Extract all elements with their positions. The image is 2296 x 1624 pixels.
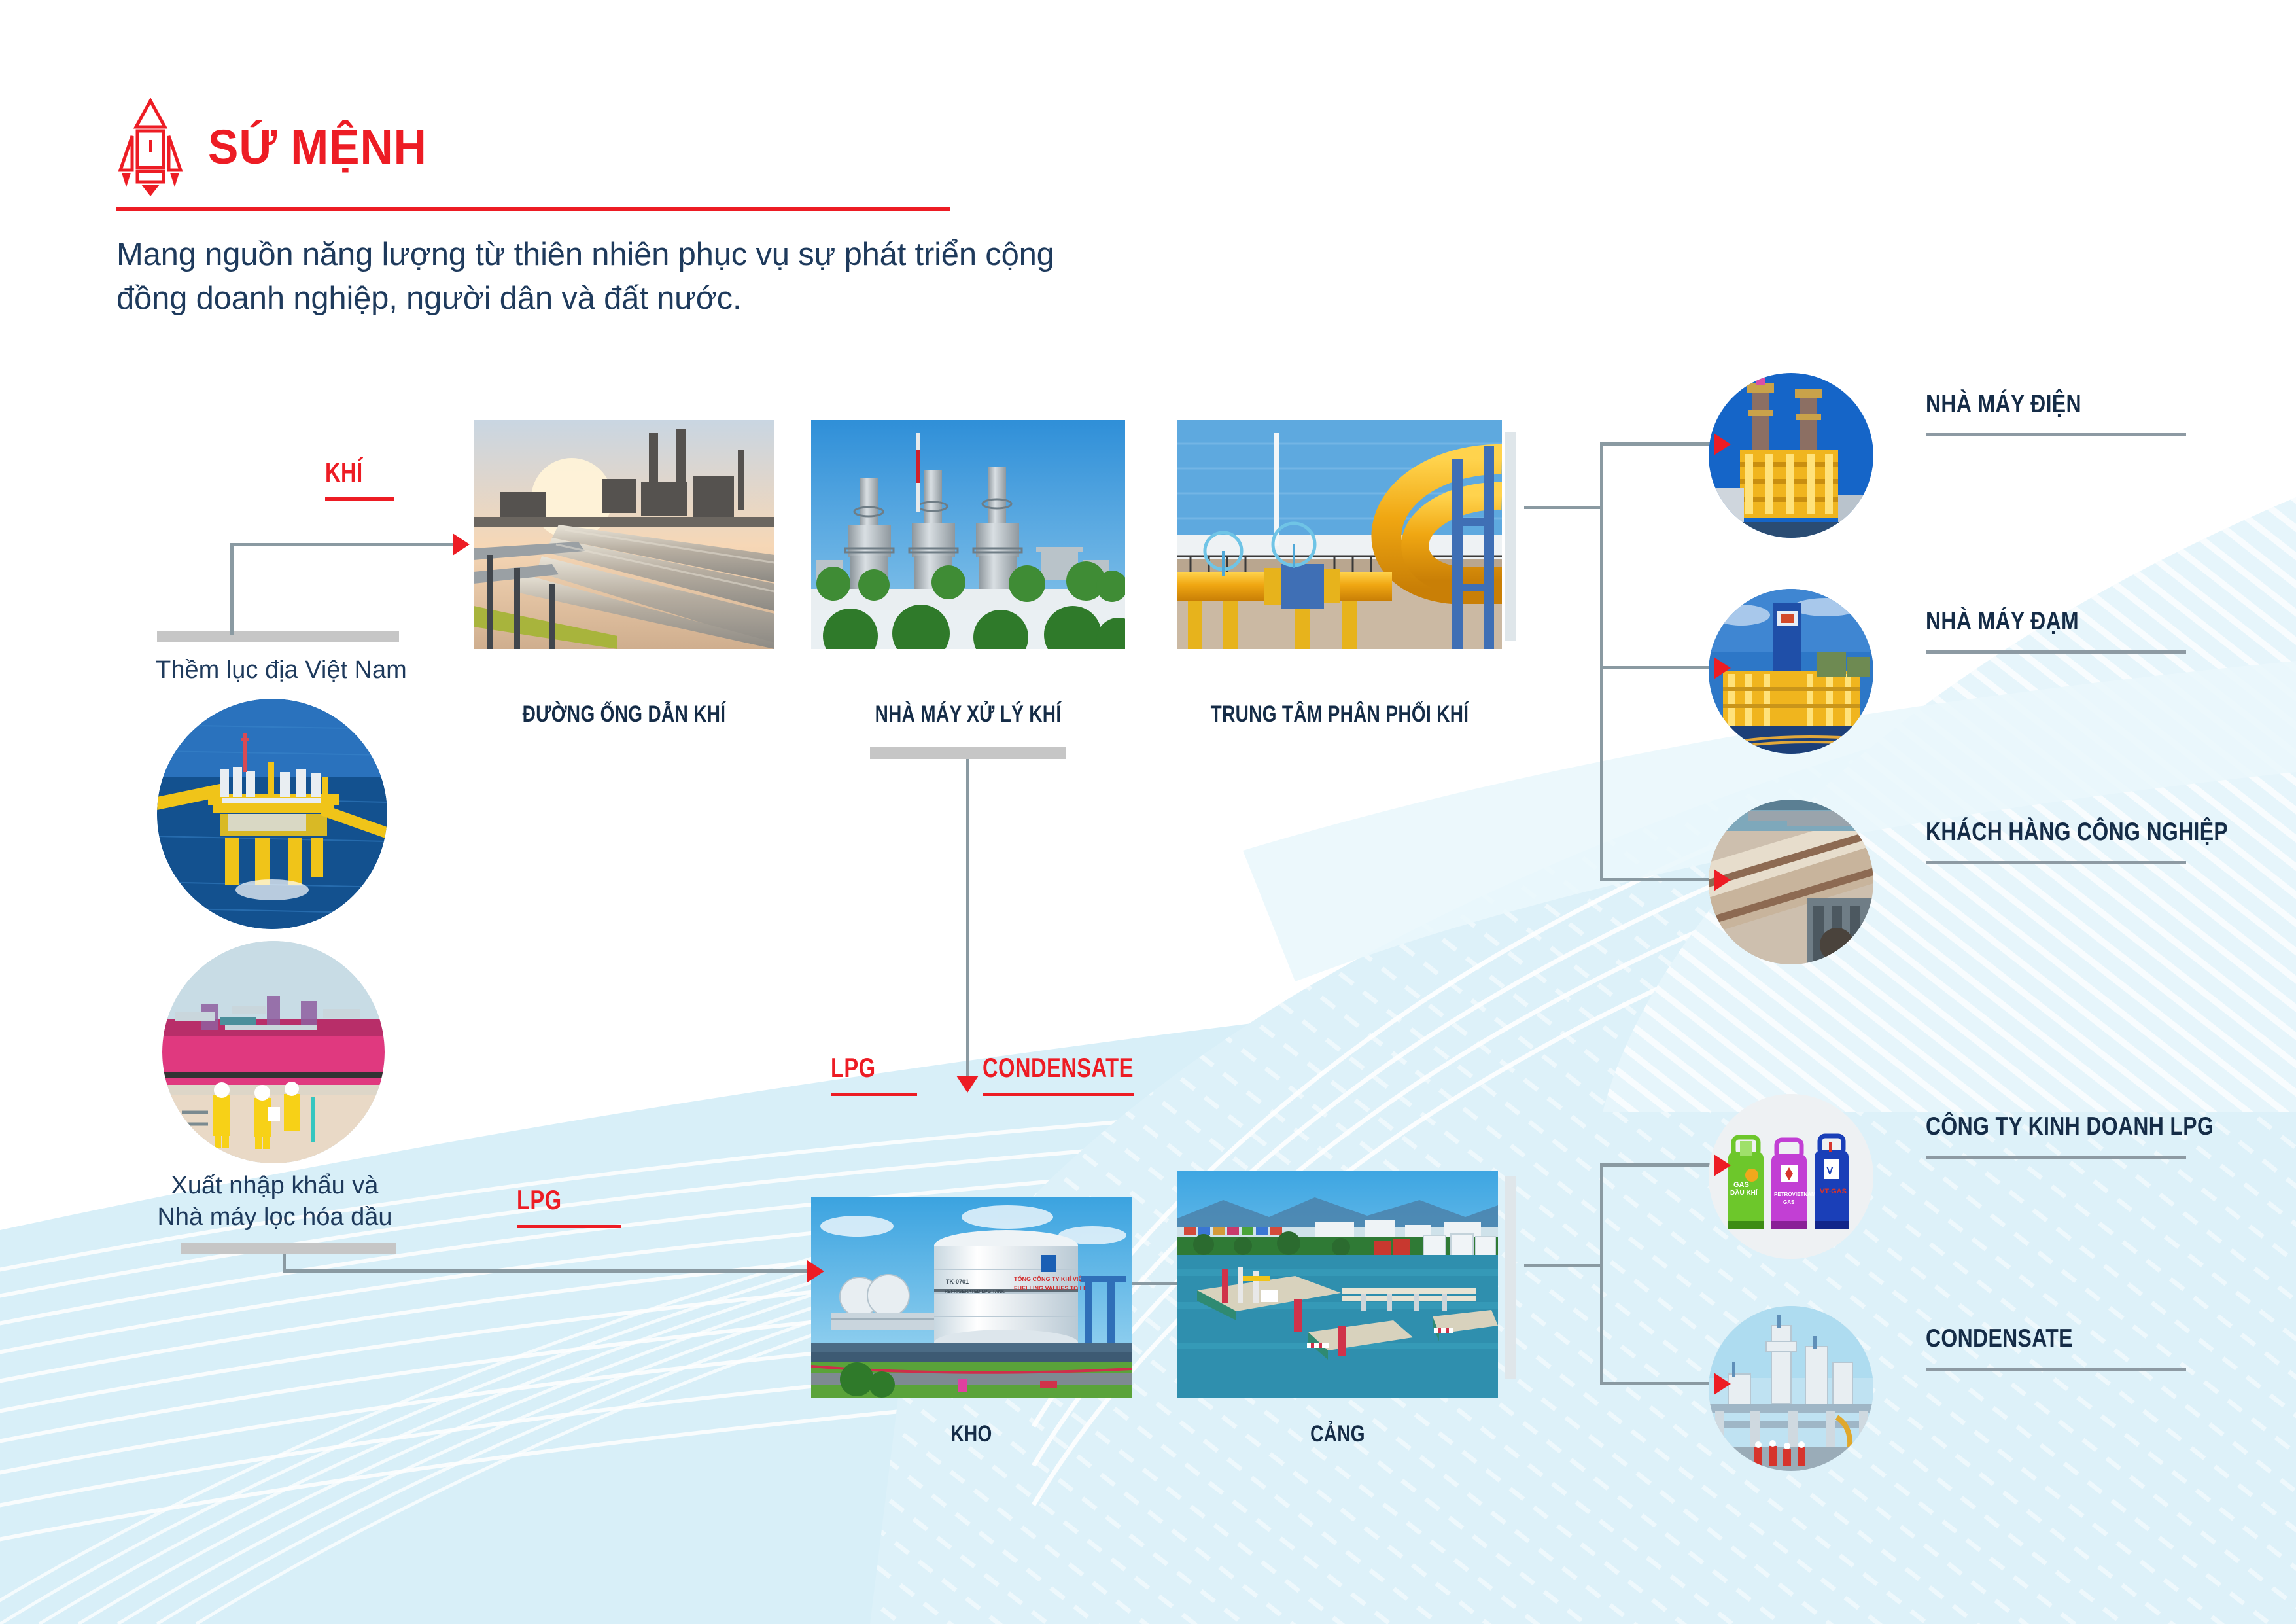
gas-distribution-hub-photo bbox=[1177, 420, 1502, 649]
arrow-to-lpg-company bbox=[1714, 1154, 1731, 1176]
connector-shelf-vertical bbox=[230, 543, 234, 635]
connector-port-horizontal bbox=[1524, 1264, 1601, 1267]
source-label-import-line1: Xuất nhập khẩu và bbox=[78, 1170, 471, 1202]
midstream-caption-distribution: TRUNG TÂM PHÂN PHỐI KHÍ bbox=[1205, 701, 1475, 728]
svg-text:V: V bbox=[1826, 1165, 1834, 1176]
midstream-caption-pipeline: ĐƯỜNG ỐNG DẪN KHÍ bbox=[504, 701, 744, 728]
output-label-industrial: KHÁCH HÀNG CÔNG NGHIỆP bbox=[1926, 818, 2294, 864]
rocket-icon bbox=[116, 98, 184, 196]
svg-text:TK-0701: TK-0701 bbox=[946, 1279, 969, 1285]
industrial-customer-photo bbox=[1709, 800, 1873, 964]
flow-label-gas: KHÍ bbox=[325, 457, 394, 501]
connector-branch-fertilizer bbox=[1600, 666, 1718, 669]
downstream-caption-storage: KHO bbox=[843, 1421, 1100, 1447]
svg-text:VT-GAS: VT-GAS bbox=[1820, 1188, 1847, 1195]
downstream-caption-port: CẢNG bbox=[1209, 1421, 1466, 1447]
svg-text:PETROVIETNAM: PETROVIETNAM bbox=[1774, 1192, 1816, 1197]
connector-storage-to-port bbox=[1132, 1282, 1177, 1285]
output-label-power-plant: NHÀ MÁY ĐIỆN bbox=[1926, 390, 2186, 436]
midstream-caption-processing: NHÀ MÁY XỬ LÝ KHÍ bbox=[843, 701, 1094, 728]
arrow-to-power-plant bbox=[1714, 433, 1731, 455]
port-jetty-photo bbox=[1177, 1171, 1498, 1398]
arrow-to-industrial bbox=[1714, 869, 1731, 891]
arrow-processing-down bbox=[956, 1076, 979, 1093]
processing-bar bbox=[870, 747, 1066, 759]
lpg-cylinders-photo: GAS DẦU KHÍ PETROVIETNAM GAS bbox=[1709, 1094, 1873, 1259]
header: SỨ MỆNH Mang nguồn năng lượng từ thiên n… bbox=[116, 98, 1078, 320]
flow-label-lpg-mid: LPG bbox=[831, 1052, 917, 1096]
connector-hub-trunk bbox=[1600, 442, 1603, 881]
gas-pipeline-photo bbox=[474, 420, 774, 649]
svg-text:GAS: GAS bbox=[1783, 1199, 1795, 1205]
gas-processing-plant-photo bbox=[811, 420, 1125, 649]
distribution-side-bar bbox=[1505, 432, 1516, 641]
connector-import-horizontal bbox=[283, 1269, 811, 1273]
svg-text:REFRIGERATED LPG TANK: REFRIGERATED LPG TANK bbox=[945, 1290, 1005, 1294]
infographic-canvas: SỨ MỆNH Mang nguồn năng lượng từ thiên n… bbox=[0, 0, 2296, 1624]
port-side-bar bbox=[1505, 1176, 1516, 1379]
connector-branch-industrial bbox=[1600, 878, 1718, 881]
svg-text:DẦU KHÍ: DẦU KHÍ bbox=[1730, 1188, 1758, 1197]
power-plant-photo bbox=[1709, 373, 1873, 538]
connector-hub-horizontal bbox=[1524, 506, 1601, 509]
svg-text:FUELLING VALUES TO LIFE: FUELLING VALUES TO LIFE bbox=[1014, 1285, 1092, 1292]
output-label-condensate: CONDENSATE bbox=[1926, 1324, 2186, 1371]
refinery-workers-photo bbox=[162, 941, 385, 1163]
connector-port-trunk bbox=[1600, 1163, 1603, 1385]
flow-label-lpg-bottom: LPG bbox=[517, 1184, 621, 1228]
arrow-to-fertilizer-plant bbox=[1714, 657, 1731, 679]
source-label-shelf: Thềm lục địa Việt Nam bbox=[98, 654, 464, 686]
page-title: SỨ MỆNH bbox=[208, 123, 427, 171]
flow-label-condensate-mid: CONDENSATE bbox=[983, 1052, 1176, 1096]
source-shelf-bar bbox=[157, 631, 399, 642]
offshore-platform-photo bbox=[157, 699, 387, 929]
connector-processing-down bbox=[966, 759, 969, 1080]
connector-branch-power bbox=[1600, 442, 1718, 446]
connector-branch-lpg-company bbox=[1600, 1163, 1718, 1167]
lpg-storage-tank-photo: TỔNG CÔNG TY KHÍ VIỆT NAM FUELLING VALUE… bbox=[811, 1197, 1132, 1398]
source-label-import-line2: Nhà máy lọc hóa dầu bbox=[78, 1201, 471, 1233]
connector-shelf-horizontal bbox=[230, 543, 456, 546]
output-label-lpg-company: CÔNG TY KINH DOANH LPG bbox=[1926, 1112, 2277, 1159]
fertilizer-plant-photo bbox=[1709, 589, 1873, 754]
source-import-bar bbox=[181, 1243, 396, 1254]
arrow-to-condensate bbox=[1714, 1373, 1731, 1395]
output-label-fertilizer-plant: NHÀ MÁY ĐẠM bbox=[1926, 607, 2186, 654]
svg-text:GAS: GAS bbox=[1733, 1181, 1749, 1189]
arrow-gas-to-pipeline bbox=[453, 533, 470, 556]
condensate-plant-photo bbox=[1709, 1306, 1873, 1471]
connector-branch-condensate bbox=[1600, 1382, 1718, 1385]
header-divider bbox=[116, 207, 950, 211]
arrow-lpg-to-storage bbox=[807, 1260, 824, 1282]
mission-statement: Mang nguồn năng lượng từ thiên nhiên phụ… bbox=[116, 233, 1078, 320]
